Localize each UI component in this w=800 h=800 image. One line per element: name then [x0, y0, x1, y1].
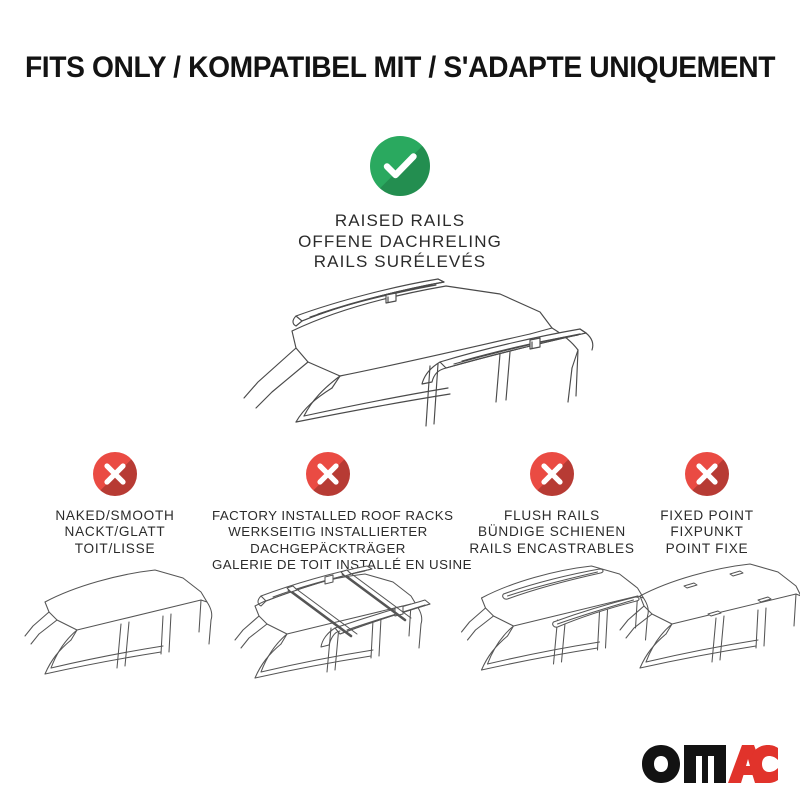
label-de-1: WERKSEITIG INSTALLIERTER	[212, 524, 444, 540]
incompatible-item-flush-rails: FLUSH RAILS BÜNDIGE SCHIENEN RAILS ENCAS…	[448, 452, 656, 557]
x-circle-icon	[93, 452, 137, 496]
page-title: FITS ONLY / KOMPATIBEL MIT / S'ADAPTE UN…	[24, 50, 776, 86]
compatible-labels: RAISED RAILS OFFENE DACHRELING RAILS SUR…	[0, 211, 800, 273]
omac-logo	[640, 742, 780, 788]
compatible-section: RAISED RAILS OFFENE DACHRELING RAILS SUR…	[0, 136, 800, 273]
incompatible-labels: NAKED/SMOOTH NACKT/GLATT TOIT/LISSE	[10, 508, 220, 557]
label-en: FIXED POINT	[637, 508, 777, 524]
x-circle-icon	[530, 452, 574, 496]
label-fr: TOIT/LISSE	[10, 541, 220, 557]
incompatible-labels: FLUSH RAILS BÜNDIGE SCHIENEN RAILS ENCAS…	[448, 508, 656, 557]
car-roof-factory-roof-rack-illustration	[217, 552, 439, 692]
incompatible-labels: FIXED POINT FIXPUNKT POINT FIXE	[637, 508, 777, 557]
label-de: BÜNDIGE SCHIENEN	[448, 524, 656, 540]
incompatible-item-fixed-point: FIXED POINT FIXPUNKT POINT FIXE	[637, 452, 777, 557]
x-circle-icon	[685, 452, 729, 496]
incompatible-section: NAKED/SMOOTH NACKT/GLATT TOIT/LISSE	[0, 452, 800, 692]
logo-letter-m	[684, 745, 726, 783]
logo-letter-o	[642, 745, 680, 783]
car-roof-raised-rails-illustration	[200, 276, 620, 456]
check-circle-icon	[370, 136, 430, 196]
label-en: NAKED/SMOOTH	[10, 508, 220, 524]
compatible-label-fr: RAILS SURÉLEVÉS	[0, 252, 800, 273]
car-roof-fixed-point-illustration	[612, 552, 800, 687]
compatible-label-en: RAISED RAILS	[0, 211, 800, 232]
label-en: FACTORY INSTALLED ROOF RACKS	[212, 508, 444, 524]
label-en: FLUSH RAILS	[448, 508, 656, 524]
incompatible-item-naked-smooth: NAKED/SMOOTH NACKT/GLATT TOIT/LISSE	[10, 452, 220, 557]
incompatible-item-factory-roof-rack: FACTORY INSTALLED ROOF RACKS WERKSEITIG …	[212, 452, 444, 574]
car-roof-naked-smooth-illustration	[15, 560, 215, 690]
label-de: FIXPUNKT	[637, 524, 777, 540]
compatible-label-de: OFFENE DACHRELING	[0, 232, 800, 253]
label-de: NACKT/GLATT	[10, 524, 220, 540]
x-circle-icon	[306, 452, 350, 496]
